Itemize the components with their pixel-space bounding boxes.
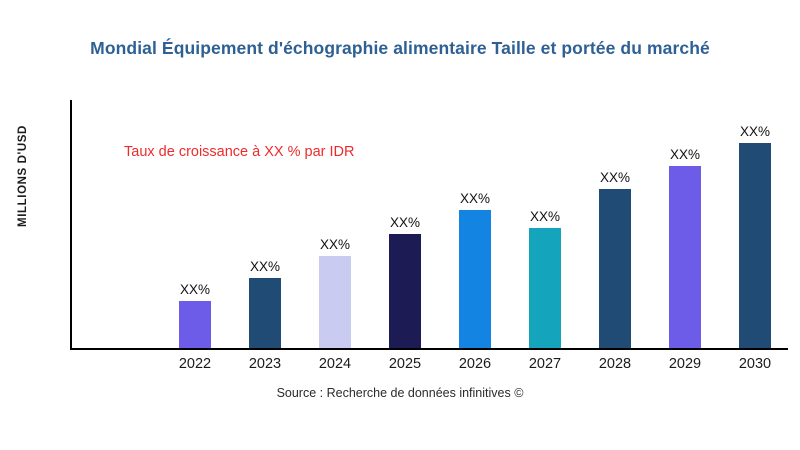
bar-2030[interactable] (739, 143, 771, 348)
bar-2025[interactable] (389, 234, 421, 348)
bar-group: XX% (739, 117, 771, 348)
bar-group: XX% (319, 230, 351, 348)
bar-2024[interactable] (319, 256, 351, 348)
chart-figure: Mondial Équipement d'échographie aliment… (0, 0, 800, 450)
x-axis-line (70, 348, 788, 350)
bar-group: XX% (249, 252, 281, 348)
bar-2029[interactable] (669, 166, 701, 348)
bar-value-label: XX% (793, 101, 800, 116)
bar-group: XX% (179, 275, 211, 348)
y-axis-line (70, 100, 72, 350)
bar-2027[interactable] (529, 228, 561, 348)
bar-value-label: XX% (653, 147, 717, 162)
bar-value-label: XX% (513, 209, 577, 224)
bar-group: XX% (669, 140, 701, 348)
chart-title: Mondial Équipement d'échographie aliment… (0, 38, 800, 59)
x-tick-2029: 2029 (649, 356, 721, 372)
source-note: Source : Recherche de données infinitive… (0, 386, 800, 400)
x-tick-2022: 2022 (159, 356, 231, 372)
x-tick-2027: 2027 (509, 356, 581, 372)
y-axis-label: MILLIONS D'USD (17, 86, 29, 266)
bar-2028[interactable] (599, 189, 631, 348)
bar-2023[interactable] (249, 278, 281, 348)
bar-value-label: XX% (373, 215, 437, 230)
plot-area: XX%XX%XX%XX%XX%XX%XX%XX%XX%XX% (70, 100, 788, 350)
bar-group: XX% (599, 163, 631, 348)
bar-value-label: XX% (583, 170, 647, 185)
x-tick-2031: 2031 (789, 356, 800, 372)
x-tick-2030: 2030 (719, 356, 791, 372)
bar-value-label: XX% (443, 191, 507, 206)
x-tick-2026: 2026 (439, 356, 511, 372)
bar-value-label: XX% (233, 259, 297, 274)
x-tick-2023: 2023 (229, 356, 301, 372)
bar-2026[interactable] (459, 210, 491, 348)
x-tick-2028: 2028 (579, 356, 651, 372)
x-tick-2024: 2024 (299, 356, 371, 372)
bar-group: XX% (459, 184, 491, 348)
x-tick-2025: 2025 (369, 356, 441, 372)
bar-group: XX% (389, 208, 421, 348)
bar-2022[interactable] (179, 301, 211, 348)
bar-value-label: XX% (303, 237, 367, 252)
bar-value-label: XX% (163, 282, 227, 297)
bar-value-label: XX% (723, 124, 787, 139)
bar-group: XX% (529, 202, 561, 348)
